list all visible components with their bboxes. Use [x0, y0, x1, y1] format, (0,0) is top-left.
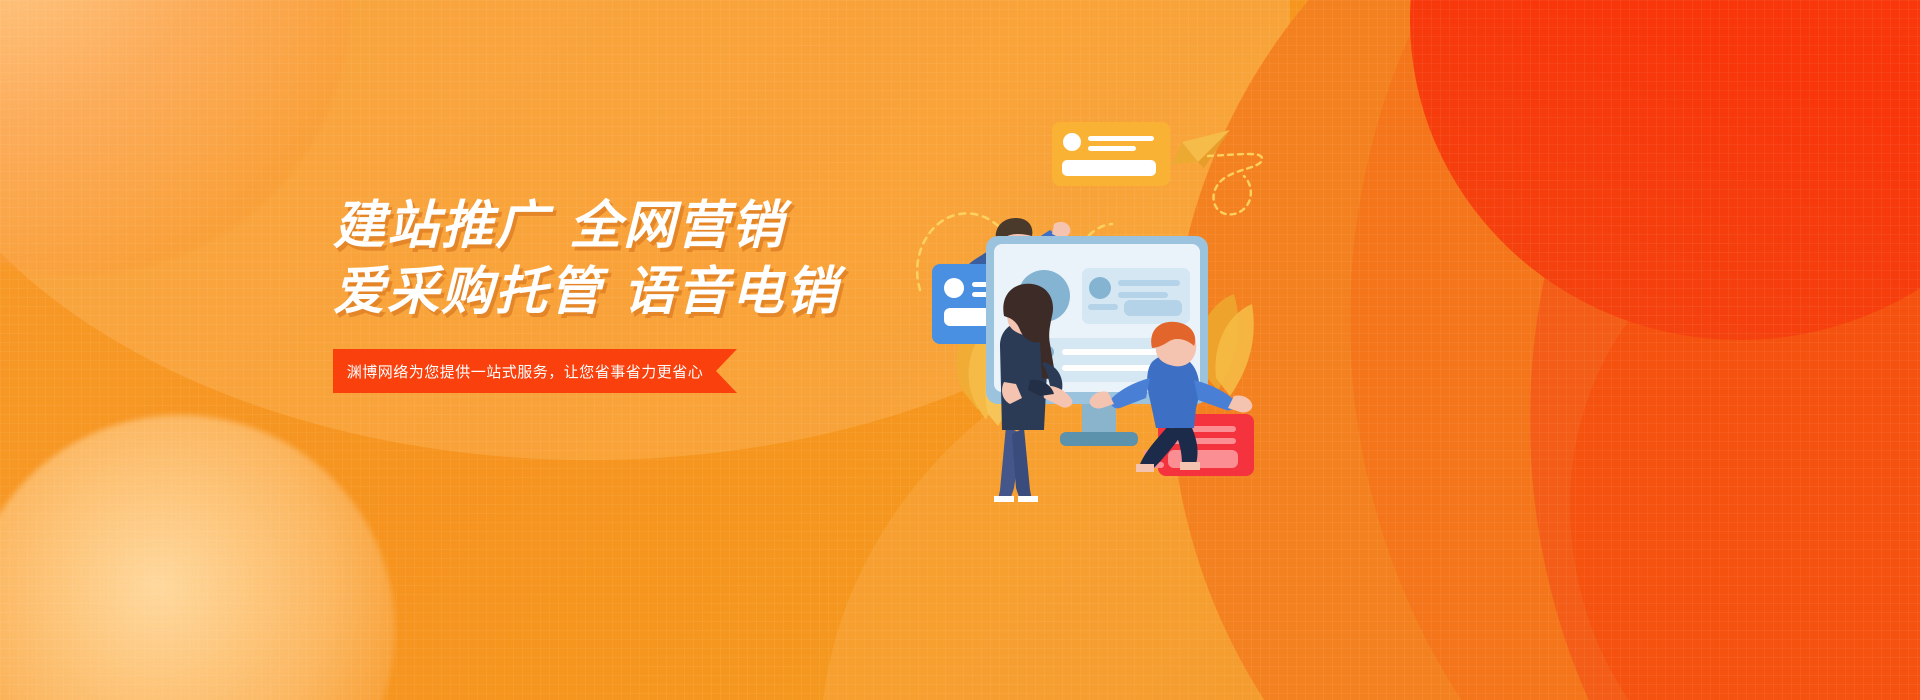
sweep-shape-b: [1350, 0, 1920, 700]
subtitle-ribbon: 渊博网络为您提供一站式服务，让您省事省力更省心: [333, 349, 737, 393]
red-tail-shape: [1570, 210, 1920, 700]
soft-circle-bottom-left: [0, 415, 395, 700]
paper-plane-icon: [1172, 130, 1230, 168]
red-blob-shape: [1410, 0, 1920, 340]
sweep-shape-c: [1530, 0, 1920, 700]
promotional-banner: 建站推广 全网营销 爱采购托管 语音电销 渊博网络为您提供一站式服务，让您省事省…: [0, 0, 1920, 700]
hero-illustration: [900, 90, 1320, 510]
plane-loop-trail: [1208, 154, 1262, 214]
soft-circle-top-left: [0, 0, 350, 275]
yellow-profile-card: [1052, 122, 1170, 186]
ribbon-label: 渊博网络为您提供一站式服务，让您省事省力更省心: [333, 349, 717, 393]
